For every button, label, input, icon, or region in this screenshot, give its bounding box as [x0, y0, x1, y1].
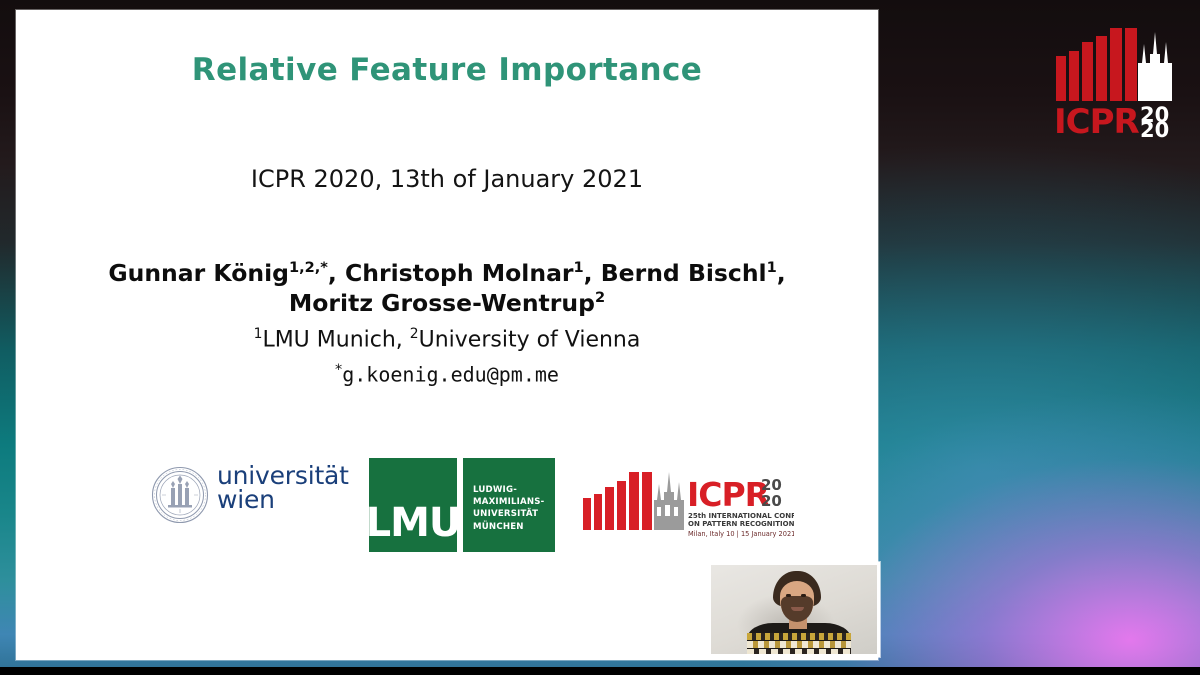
- author-name-bischl: , Bernd Bischl: [584, 259, 767, 287]
- icpr-backdrop-logo-svg: ICPR 20 20: [1046, 18, 1192, 138]
- author-name-grosse-wentrup: Moritz Grosse-Wentrup: [289, 289, 595, 317]
- lmu-name-line-3: UNIVERSITÄT: [473, 508, 553, 520]
- univie-wordmark: universität wien: [217, 464, 349, 512]
- lmu-name-line-4: MÜNCHEN: [473, 521, 553, 533]
- milan-cathedral-icon: [1138, 32, 1172, 101]
- lmu-monogram: LMU: [369, 458, 457, 552]
- icpr-slide-cathedral-icon: [654, 472, 684, 530]
- presenter-video-frame: [711, 565, 877, 654]
- screen: ICPR 20 20 Relative Feature Importance I…: [0, 0, 1200, 675]
- slide-title: Relative Feature Importance: [16, 52, 878, 88]
- sweater-pattern-band-3: [747, 649, 851, 654]
- slide-date: ICPR 2020, 13th of January 2021: [16, 165, 878, 193]
- icpr-bars-icon: [1056, 28, 1137, 101]
- university-of-vienna-logo: universität wien: [151, 460, 361, 532]
- presenter-mouth: [791, 607, 804, 611]
- lmu-logo: LMU LUDWIG- MAXIMILIANS- UNIVERSITÄT MÜN…: [369, 458, 555, 552]
- univie-word-line-2: wien: [217, 488, 349, 512]
- email-address: g.koenig.edu@pm.me: [342, 363, 559, 387]
- author-name-molnar: , Christoph Molnar: [328, 259, 574, 287]
- presenter-eye-left: [786, 594, 791, 597]
- sweater-pattern-band-1: [747, 633, 851, 640]
- univie-seal-icon: [151, 466, 209, 524]
- icpr-slide-logo-svg: ICPR 20 20 25th INTERNATIONAL CONFERENCE…: [579, 460, 794, 538]
- contact-email: *g.koenig.edu@pm.me: [16, 362, 878, 387]
- icpr-backdrop-wordmark: ICPR: [1054, 102, 1140, 138]
- author-sup-molnar: 1: [574, 259, 584, 276]
- presenter-video-thumbnail[interactable]: [708, 562, 880, 657]
- author-list: Gunnar König1,2,*, Christoph Molnar1, Be…: [16, 258, 878, 318]
- author-sup-konig: 1,2,*: [289, 259, 328, 276]
- affiliations: 1LMU Munich, 2University of Vienna: [16, 326, 878, 352]
- icpr-backdrop-logo: ICPR 20 20: [1046, 18, 1192, 138]
- affiliation-2: University of Vienna: [419, 327, 641, 352]
- author-sup-bischl: 1: [767, 259, 777, 276]
- icpr-slide-logo: ICPR 20 20 25th INTERNATIONAL CONFERENCE…: [579, 460, 794, 538]
- affiliation-1: LMU Munich,: [262, 327, 409, 352]
- backdrop-bottom-bar: [0, 667, 1200, 675]
- icpr-slide-tagline-line-2: ON PATTERN RECOGNITION: [688, 520, 794, 528]
- presenter-eye-right: [801, 594, 806, 597]
- icpr-slide-year-bottom: 20: [761, 492, 782, 510]
- lmu-full-name: LUDWIG- MAXIMILIANS- UNIVERSITÄT MÜNCHEN: [473, 484, 553, 533]
- lmu-name-line-1: LUDWIG-: [473, 484, 553, 496]
- lmu-name-line-2: MAXIMILIANS-: [473, 496, 553, 508]
- author-name-konig: Gunnar König: [108, 259, 289, 287]
- author-line-2: Moritz Grosse-Wentrup2: [16, 288, 878, 318]
- author-line-1-comma: ,: [777, 259, 786, 287]
- icpr-slide-wordmark: ICPR: [687, 475, 770, 514]
- affiliation-sup-2: 2: [410, 326, 419, 342]
- logo-row: universität wien LMU LUDWIG- MAXIMILIANS…: [136, 450, 816, 560]
- author-sup-grosse-wentrup: 2: [595, 289, 605, 306]
- sweater-pattern-band-2: [747, 641, 851, 648]
- icpr-slide-tagline-line-3: Milan, Italy 10 | 15 January 2021: [688, 530, 794, 538]
- icpr-slide-bars-icon: [583, 472, 652, 530]
- author-line-1: Gunnar König1,2,*, Christoph Molnar1, Be…: [16, 258, 878, 288]
- icpr-slide-tagline-line-1: 25th INTERNATIONAL CONFERENCE: [688, 512, 794, 520]
- icpr-backdrop-year-bottom: 20: [1140, 118, 1169, 138]
